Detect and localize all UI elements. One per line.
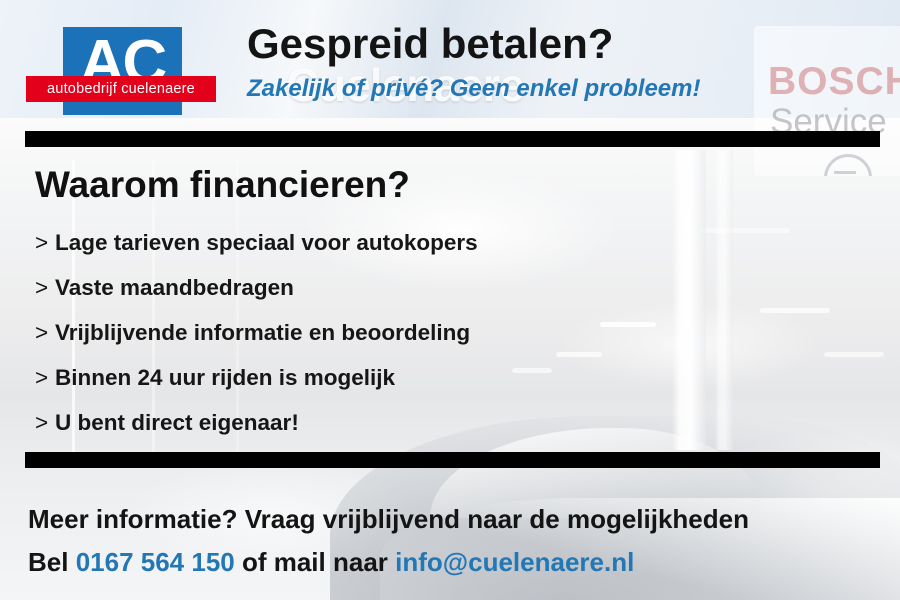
chevron-right-icon: >	[35, 355, 55, 400]
contact-footer: Meer informatie? Vraag vrijblijvend naar…	[28, 498, 878, 584]
logo-red-ribbon: autobedrijf cuelenaere	[26, 76, 216, 102]
footer-info-line: Meer informatie? Vraag vrijblijvend naar…	[28, 498, 878, 541]
why-finance-section: Waarom financieren? >Lage tarieven speci…	[35, 162, 735, 445]
headline-title: Gespreid betalen?	[247, 18, 777, 70]
divider-rule-bottom	[25, 452, 880, 468]
footer-contact-line: Bel 0167 564 150 of mail naar info@cuele…	[28, 541, 878, 584]
list-item-label: Vaste maandbedragen	[55, 275, 294, 300]
section-title: Waarom financieren?	[35, 162, 735, 208]
list-item-label: Binnen 24 uur rijden is mogelijk	[55, 365, 395, 390]
list-item: >Vrijblijvende informatie en beoordeling	[35, 310, 735, 355]
headline-subtitle: Zakelijk of privé? Geen enkel probleem!	[247, 72, 777, 106]
footer-mail-prefix: of mail naar	[235, 547, 395, 577]
chevron-right-icon: >	[35, 310, 55, 355]
headline-block: Gespreid betalen? Zakelijk of privé? Gee…	[247, 18, 777, 106]
chevron-right-icon: >	[35, 400, 55, 445]
finance-promo-banner: BOSCH Service Cuelenaere AC autobedrijf …	[0, 0, 900, 600]
logo-ribbon-text: autobedrijf cuelenaere	[47, 81, 195, 97]
footer-call-prefix: Bel	[28, 547, 76, 577]
company-logo[interactable]: AC autobedrijf cuelenaere	[26, 25, 216, 115]
list-item-label: Vrijblijvende informatie en beoordeling	[55, 320, 470, 345]
list-item: >Binnen 24 uur rijden is mogelijk	[35, 355, 735, 400]
benefits-list: >Lage tarieven speciaal voor autokopers …	[35, 220, 735, 445]
chevron-right-icon: >	[35, 265, 55, 310]
list-item: >Lage tarieven speciaal voor autokopers	[35, 220, 735, 265]
phone-number-link[interactable]: 0167 564 150	[76, 547, 235, 577]
list-item: >Vaste maandbedragen	[35, 265, 735, 310]
list-item-label: Lage tarieven speciaal voor autokopers	[55, 230, 478, 255]
email-address-link[interactable]: info@cuelenaere.nl	[395, 547, 634, 577]
chevron-right-icon: >	[35, 220, 55, 265]
divider-rule-top	[25, 131, 880, 147]
list-item-label: U bent direct eigenaar!	[55, 410, 299, 435]
list-item: >U bent direct eigenaar!	[35, 400, 735, 445]
